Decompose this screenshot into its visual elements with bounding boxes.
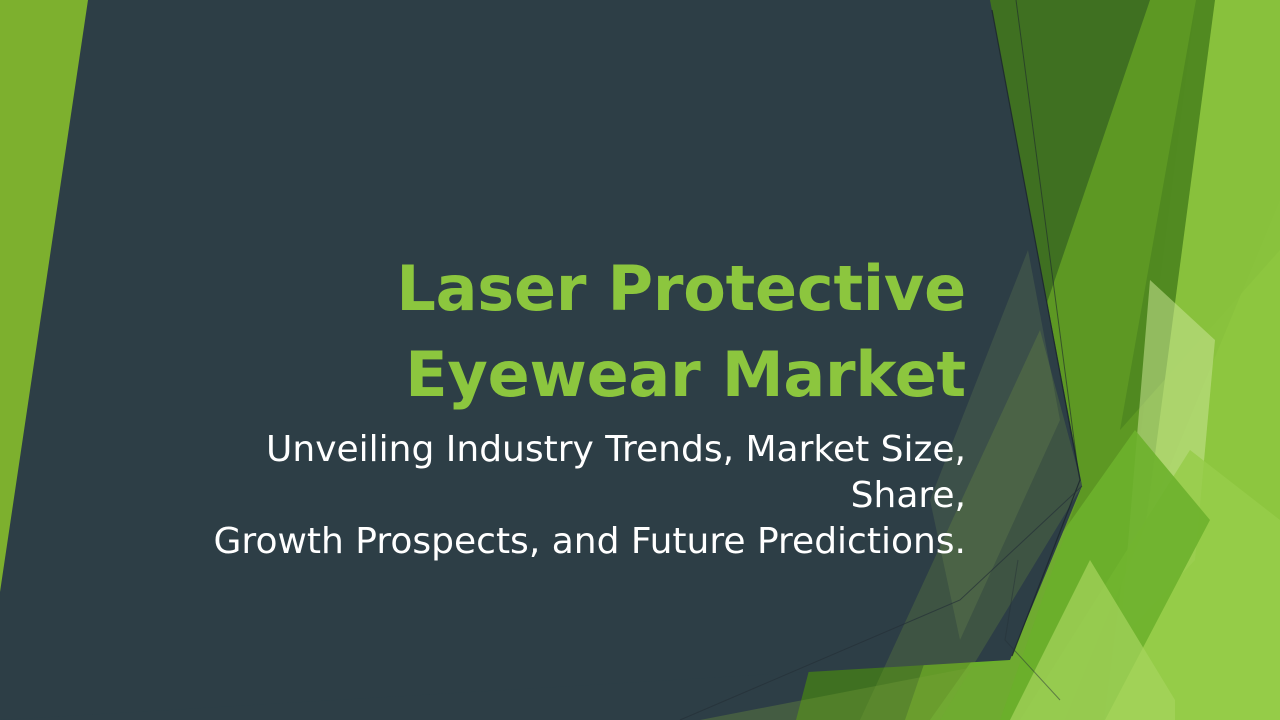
page-subtitle: Unveiling Industry Trends, Market Size, … bbox=[140, 427, 966, 564]
presentation-slide: Laser Protective Eyewear Market Unveilin… bbox=[0, 0, 1280, 720]
title-text-block: Laser Protective Eyewear Market Unveilin… bbox=[140, 246, 966, 564]
page-title: Laser Protective Eyewear Market bbox=[140, 246, 966, 417]
